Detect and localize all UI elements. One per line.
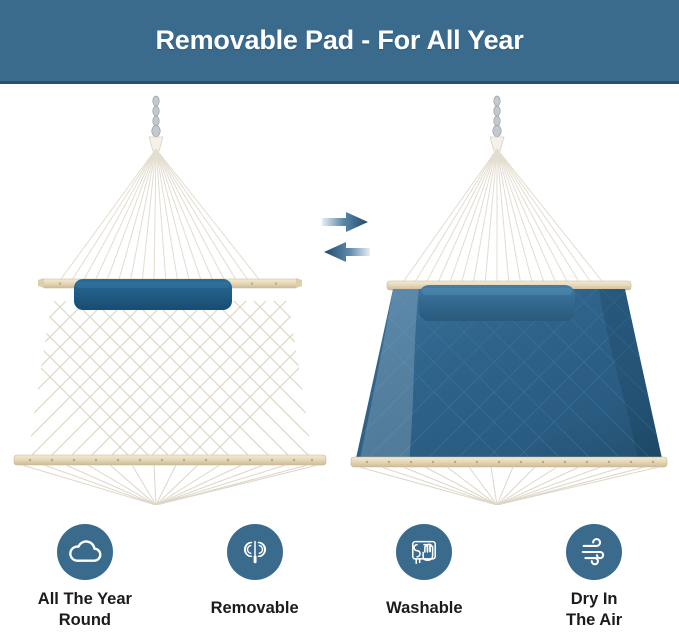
bottom-spreader-bar — [14, 455, 326, 465]
wind-icon-badge — [566, 524, 622, 580]
feature-washable: Washable — [349, 524, 499, 619]
cloud-icon — [65, 532, 105, 572]
bottom-spreader-bar — [351, 457, 667, 467]
infographic-page: Removable Pad - For All Year — [0, 0, 679, 640]
arrow-right-icon — [322, 212, 368, 232]
top-fan-ropes — [58, 149, 262, 283]
feature-all-the-year-round: All The Year Round — [10, 524, 160, 630]
hammock-with-pad-image — [339, 87, 679, 505]
bottom-fan-ropes — [359, 467, 659, 505]
wind-icon — [575, 533, 613, 571]
hammock-pillow — [74, 279, 232, 310]
rope-hammock-illustration — [0, 87, 340, 505]
zipper-icon-badge — [227, 524, 283, 580]
page-title: Removable Pad - For All Year — [155, 25, 523, 56]
hand-wash-icon-badge — [396, 524, 452, 580]
chain-links-top — [152, 96, 160, 137]
feature-label: Dry In The Air — [566, 589, 622, 630]
arrow-left-icon — [324, 242, 370, 262]
hammock-without-pad-image — [0, 87, 340, 505]
hammock-pillow — [419, 285, 575, 321]
padded-hammock-illustration — [339, 87, 679, 505]
zipper-icon — [236, 533, 274, 571]
apex-knot — [490, 137, 504, 151]
feature-label: All The Year Round — [38, 589, 132, 630]
product-comparison-stage — [0, 87, 679, 505]
bottom-fan-ropes — [22, 465, 318, 505]
feature-dry-in-the-air: Dry In The Air — [519, 524, 669, 630]
feature-removable: Removable — [180, 524, 330, 619]
hand-wash-icon — [405, 533, 443, 571]
feature-list: All The Year Round Rem — [0, 524, 679, 640]
chain-links-top — [493, 96, 501, 137]
swap-arrows — [318, 209, 374, 271]
top-fan-ropes — [401, 149, 605, 285]
feature-label: Washable — [386, 598, 462, 619]
arrow-pair-svg — [318, 209, 374, 271]
feature-label: Removable — [211, 598, 299, 619]
apex-knot — [149, 137, 163, 151]
header-banner: Removable Pad - For All Year — [0, 0, 679, 84]
cloud-icon-badge — [57, 524, 113, 580]
